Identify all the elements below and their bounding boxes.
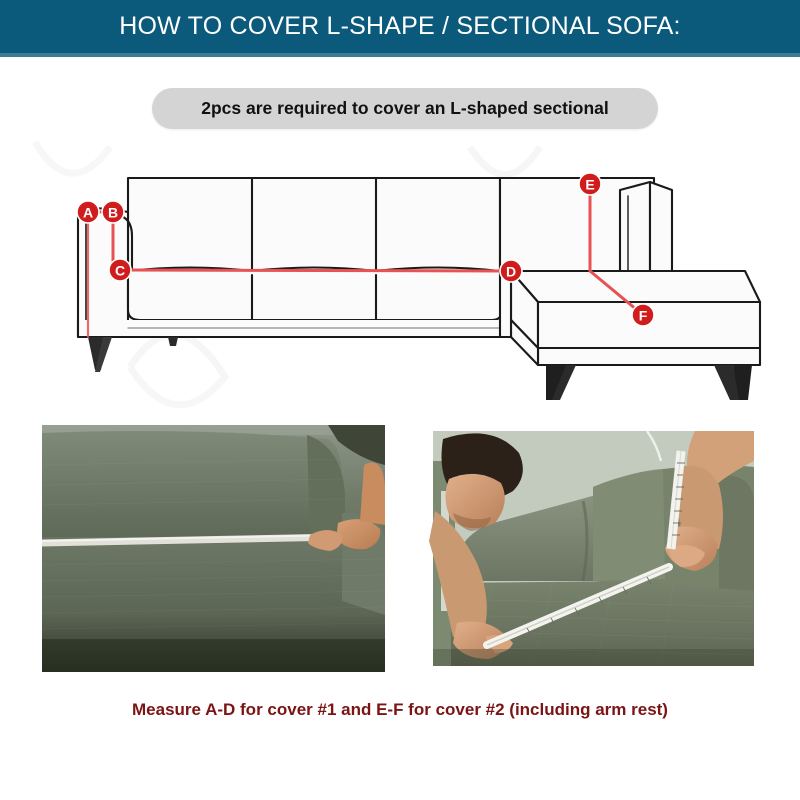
svg-text:E: E xyxy=(585,177,594,193)
header-underline xyxy=(0,53,800,57)
marker-b: B xyxy=(102,201,124,223)
marker-c: C xyxy=(109,259,131,281)
svg-text:C: C xyxy=(115,263,125,279)
marker-f: F xyxy=(632,304,654,326)
marker-a: A xyxy=(77,201,99,223)
measuring-seat-width-photo xyxy=(42,425,385,672)
measuring-sofa-photo xyxy=(427,425,760,672)
svg-text:F: F xyxy=(639,308,648,324)
subtitle-pill: 2pcs are required to cover an L-shaped s… xyxy=(152,88,658,129)
svg-text:A: A xyxy=(83,205,93,221)
footer-instruction: Measure A-D for cover #1 and E-F for cov… xyxy=(0,700,800,720)
sofa-legs-chaise xyxy=(546,365,752,400)
infographic-page: HOW TO COVER L-SHAPE / SECTIONAL SOFA: 2… xyxy=(0,0,800,800)
sofa-backrest xyxy=(128,178,500,271)
svg-text:B: B xyxy=(108,205,118,221)
marker-d: D xyxy=(500,260,522,282)
subtitle-text: 2pcs are required to cover an L-shaped s… xyxy=(201,98,609,119)
svg-text:D: D xyxy=(506,264,516,280)
chaise-seat-top xyxy=(511,271,760,302)
marker-e: E xyxy=(579,173,601,195)
page-title: HOW TO COVER L-SHAPE / SECTIONAL SOFA: xyxy=(0,0,800,53)
sofa-diagram: A B C D E xyxy=(0,132,800,412)
